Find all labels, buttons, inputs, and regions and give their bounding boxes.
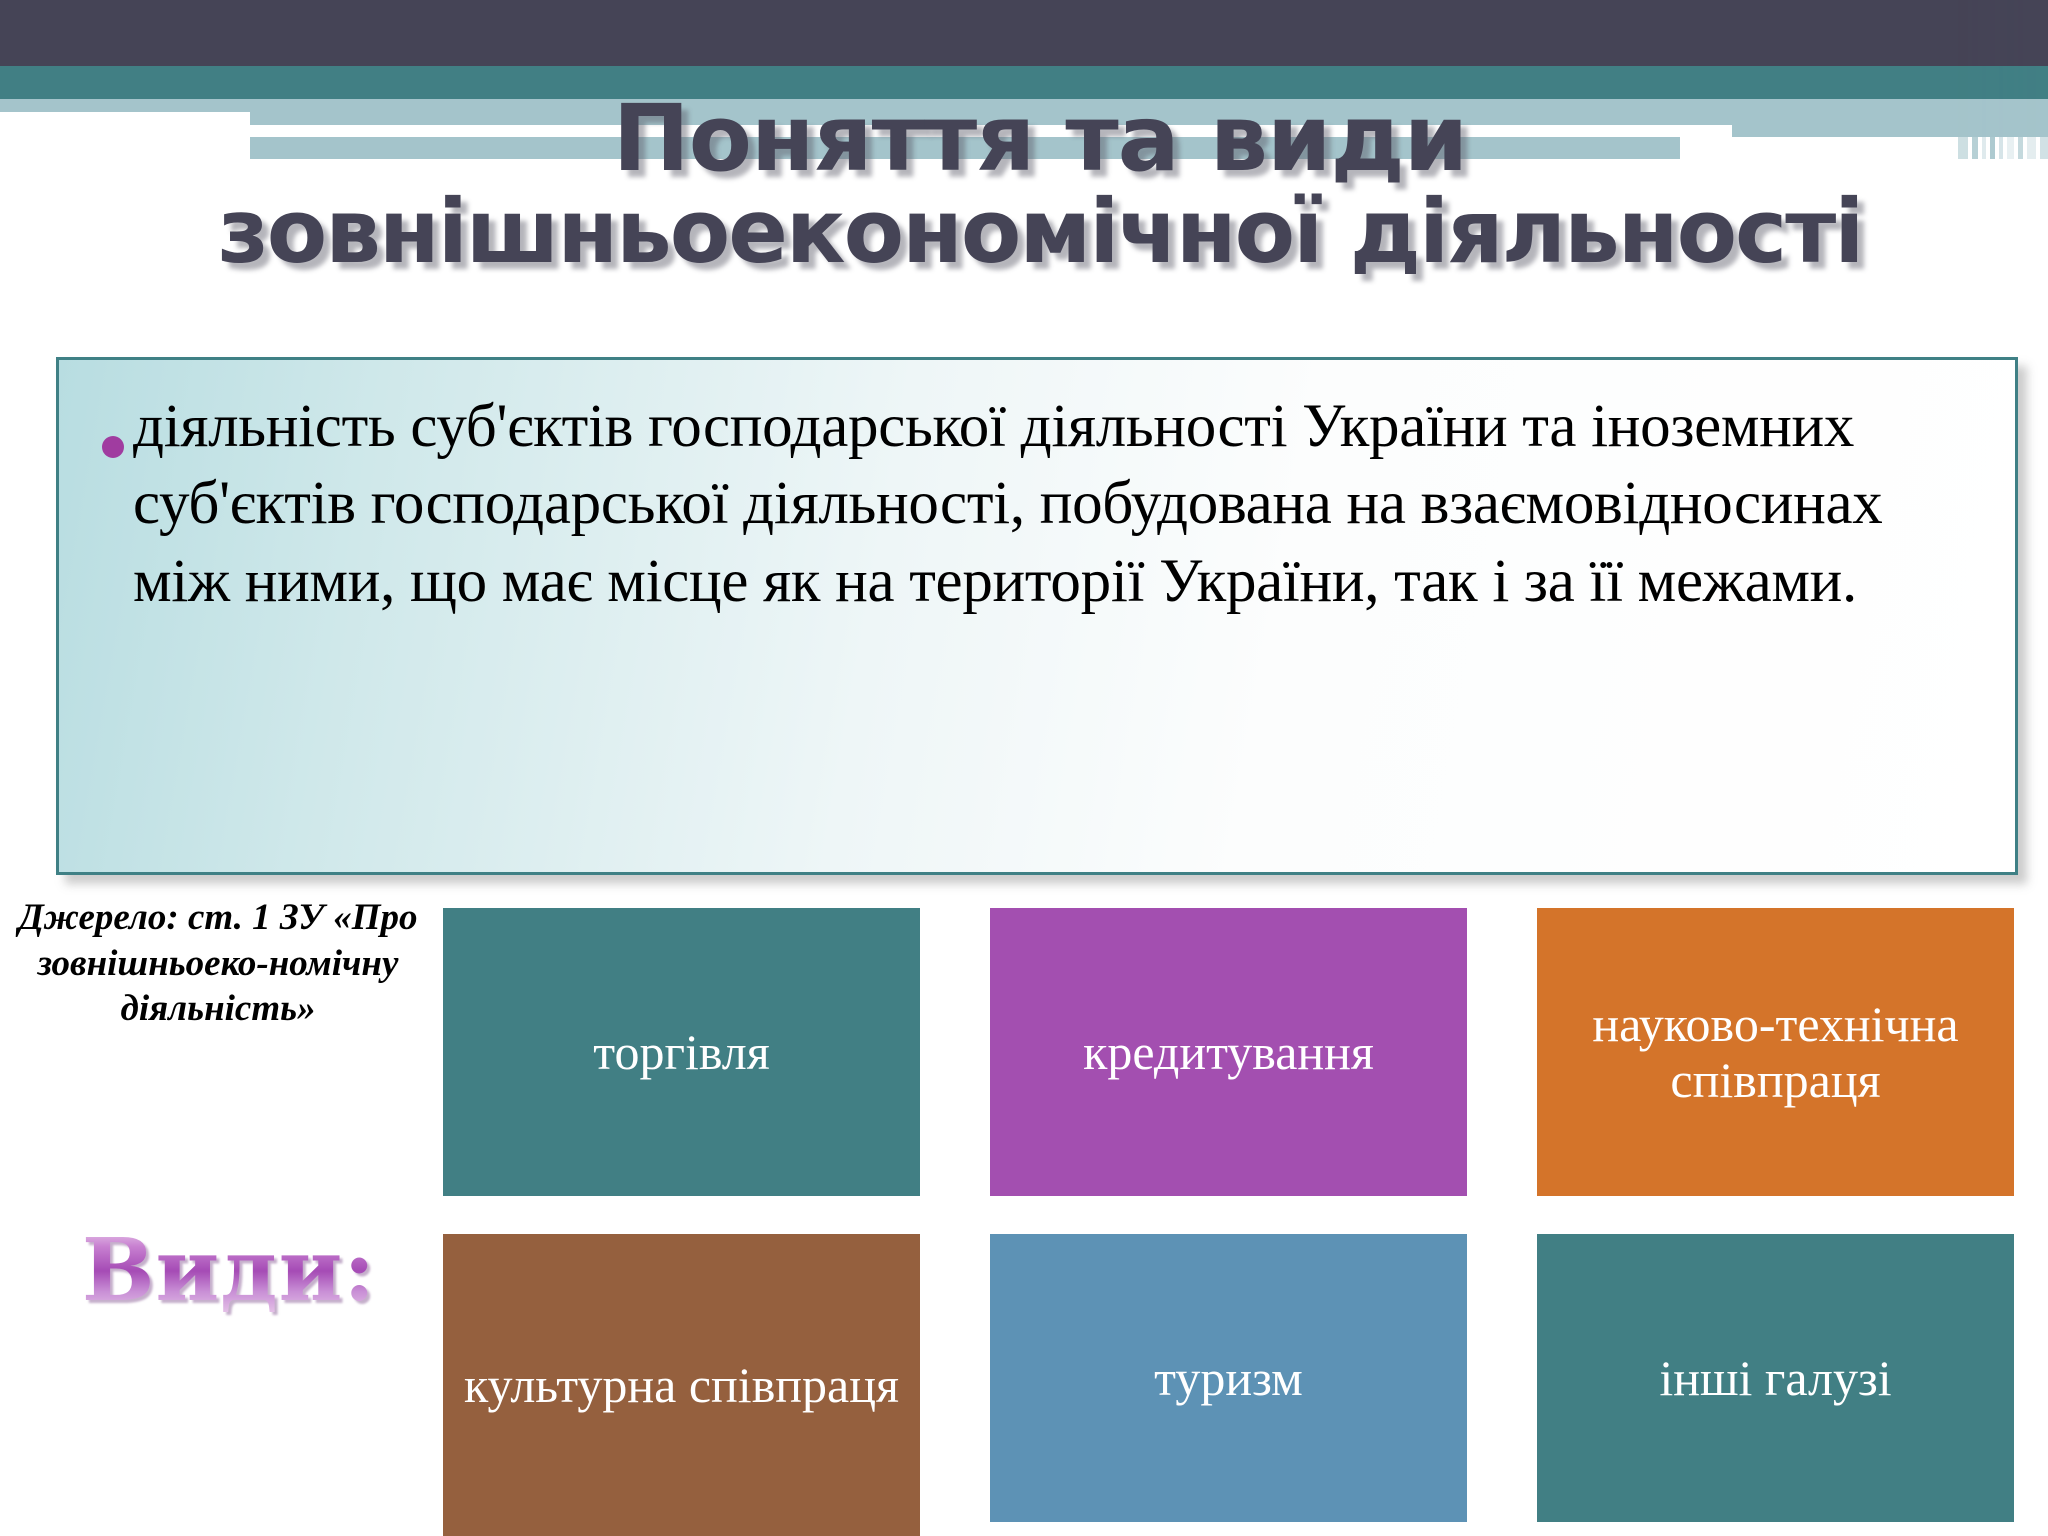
category-box-lending[interactable]: кредитування [990, 908, 1467, 1196]
category-box-cultural[interactable]: культурна співпраця [443, 1234, 920, 1536]
vydy-wordart-label: Види: [14, 1228, 444, 1314]
source-citation: Джерело: ст. 1 ЗУ «Про зовнішньоеко-номі… [8, 895, 428, 1032]
header-vertical-stripe [1958, 0, 1968, 66]
header-vertical-stripe [2027, 0, 2036, 66]
header-vertical-stripe [2027, 99, 2036, 159]
definition-content-box: діяльність суб'єктів господарської діяль… [56, 357, 2018, 875]
header-vertical-stripe [2040, 66, 2048, 99]
category-box-other[interactable]: інші галузі [1537, 1234, 2014, 1522]
header-vertical-stripe [2007, 0, 2014, 66]
slide-title-line-1: Поняття та види [60, 92, 2020, 187]
bullet-dot-icon [93, 424, 133, 466]
slide-title: Поняття та види зовнішньоекономічної дія… [60, 92, 2020, 277]
category-box-tourism[interactable]: туризм [990, 1234, 1467, 1522]
category-box-trade[interactable]: торгівля [443, 908, 920, 1196]
header-vertical-stripe [2040, 99, 2048, 159]
header-vertical-stripe [2027, 66, 2036, 99]
header-vertical-stripe [1972, 0, 1978, 66]
header-vertical-stripe [1982, 0, 1986, 66]
definition-text: діяльність суб'єктів господарської діяль… [133, 388, 1981, 620]
header-vertical-stripe [1990, 0, 1995, 66]
category-box-sci-tech[interactable]: науково-технічна співпраця [1537, 908, 2014, 1196]
header-vertical-stripe [1999, 0, 2003, 66]
header-band-dark [0, 0, 2048, 66]
slide-title-line-2: зовнішньоекономічної діяльності [60, 187, 2020, 278]
header-vertical-stripe [2018, 0, 2023, 66]
header-vertical-stripe [2040, 0, 2048, 66]
